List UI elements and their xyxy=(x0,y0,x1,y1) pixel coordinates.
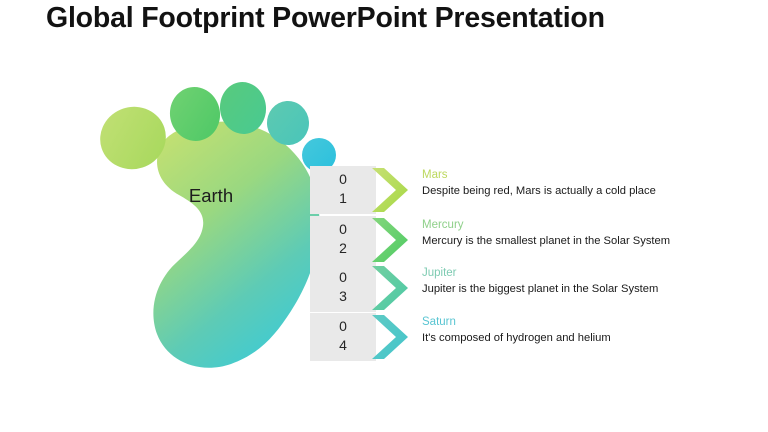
list-item[interactable]: 0 4 Saturn It's composed of hydrogen and… xyxy=(310,313,730,361)
row-description: Jupiter is the biggest planet in the Sol… xyxy=(422,282,722,297)
row-text: Mars Despite being red, Mars is actually… xyxy=(422,168,722,199)
row-description: Despite being red, Mars is actually a co… xyxy=(422,184,722,199)
row-text: Saturn It's composed of hydrogen and hel… xyxy=(422,315,722,346)
row-number-digit-bottom: 4 xyxy=(310,337,376,353)
row-number-digit-bottom: 3 xyxy=(310,288,376,304)
row-number-badge: 0 2 xyxy=(310,216,376,264)
row-number-badge: 0 3 xyxy=(310,264,376,312)
row-title: Mercury xyxy=(422,218,722,232)
row-number-badge: 0 1 xyxy=(310,166,376,214)
row-number-badge: 0 4 xyxy=(310,313,376,361)
list-item[interactable]: 0 2 Mercury Mercury is the smallest plan… xyxy=(310,216,730,264)
row-number-digit-top: 0 xyxy=(310,171,376,187)
row-number-digit-top: 0 xyxy=(310,318,376,334)
row-number-digit-bottom: 2 xyxy=(310,240,376,256)
slide-canvas: Global Footprint PowerPoint Presentation xyxy=(0,0,768,432)
row-title: Jupiter xyxy=(422,266,722,280)
row-number-digit-top: 0 xyxy=(310,269,376,285)
row-number-digit-bottom: 1 xyxy=(310,190,376,206)
content-rows: 0 1 Mars Despite being red, Mars is actu… xyxy=(0,0,768,432)
row-text: Jupiter Jupiter is the biggest planet in… xyxy=(422,266,722,297)
chevron-right-icon xyxy=(368,264,416,312)
row-description: It's composed of hydrogen and helium xyxy=(422,331,722,346)
chevron-right-icon xyxy=(368,166,416,214)
chevron-right-icon xyxy=(368,216,416,264)
row-description: Mercury is the smallest planet in the So… xyxy=(422,234,722,249)
row-text: Mercury Mercury is the smallest planet i… xyxy=(422,218,722,249)
chevron-right-icon xyxy=(368,313,416,361)
list-item[interactable]: 0 1 Mars Despite being red, Mars is actu… xyxy=(310,166,730,214)
list-item[interactable]: 0 3 Jupiter Jupiter is the biggest plane… xyxy=(310,264,730,312)
row-title: Mars xyxy=(422,168,722,182)
row-number-digit-top: 0 xyxy=(310,221,376,237)
row-title: Saturn xyxy=(422,315,722,329)
